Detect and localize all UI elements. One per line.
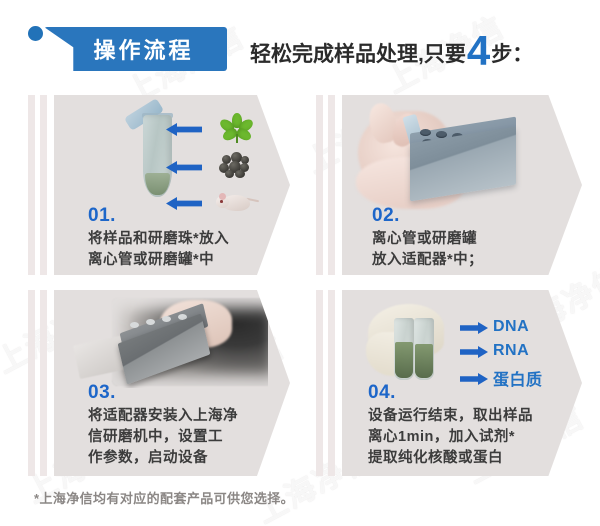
photo-hand-with-adapter	[350, 99, 540, 211]
card-stripe-inner	[328, 95, 335, 275]
ribbon-title: 操作流程	[44, 27, 227, 71]
infographic-page: 操作流程 轻松完成样品处理,只要 4 步 ：	[0, 0, 600, 526]
left-arrow-icon	[166, 197, 202, 210]
right-arrow-icon	[460, 345, 488, 357]
specimen-row-beads	[166, 155, 276, 181]
card-body-01: 01. 将样品和研磨珠*放入 离心管或研磨罐*中	[54, 95, 290, 275]
headline: 轻松完成样品处理,只要 4 步 ：	[250, 30, 533, 68]
right-arrow-icon	[460, 321, 488, 333]
specimen-row-mouse	[166, 191, 276, 217]
photo-gloved-hand-with-tubes	[354, 294, 464, 386]
step-number-03: 03.	[88, 382, 116, 404]
step-number-02: 02.	[372, 205, 400, 227]
beads-icon	[216, 151, 258, 183]
step-text-01: 将样品和研磨珠*放入 离心管或研磨罐*中	[88, 229, 229, 271]
step-number-01: 01.	[88, 205, 116, 227]
step-number-04: 04.	[368, 382, 396, 404]
right-arrow-icon	[460, 372, 488, 384]
card-body-04: DNA RNA 蛋白质 04. 设备运行结束，取出样品 离心1min，加入试剂*…	[342, 290, 582, 476]
leaf-icon	[216, 113, 258, 145]
headline-step-count: 4	[467, 34, 490, 68]
step-text-04: 设备运行结束，取出样品 离心1min，加入试剂* 提取纯化核酸或蛋白	[368, 406, 533, 469]
headline-pre-text: 轻松完成样品处理,只要	[250, 38, 466, 68]
output-label-dna: DNA	[493, 318, 529, 336]
output-label-protein: 蛋白质	[493, 366, 543, 390]
headline-colon: ：	[512, 38, 533, 68]
card-stripe-outer	[28, 290, 35, 476]
headline-post-text: 步	[491, 38, 512, 68]
card-stripe-outer	[28, 95, 35, 275]
specimen-row-plant	[166, 117, 276, 143]
left-arrow-icon	[166, 161, 202, 174]
step-text-03: 将适配器安装入上海净 信研磨机中，设置工 作参数，启动设备	[88, 406, 238, 469]
output-row-dna: DNA	[460, 318, 529, 336]
footer-note: *上海净信均有对应的配套产品可供您选择。	[34, 488, 294, 507]
card-body-02: 02. 离心管或研磨罐 放入适配器*中；	[342, 95, 582, 275]
card-stripe-inner	[328, 290, 335, 476]
card-stripe-outer	[316, 95, 323, 275]
step-card-02: 02. 离心管或研磨罐 放入适配器*中；	[316, 95, 582, 275]
mouse-icon	[216, 187, 258, 219]
output-row-protein: 蛋白质	[460, 366, 543, 390]
step-card-04: DNA RNA 蛋白质 04. 设备运行结束，取出样品 离心1min，加入试剂*…	[316, 290, 582, 476]
step-card-01: 01. 将样品和研磨珠*放入 离心管或研磨罐*中	[28, 95, 290, 275]
output-row-rna: RNA	[460, 342, 529, 360]
card-stripe-inner	[40, 290, 47, 476]
card-stripe-inner	[40, 95, 47, 275]
header: 操作流程 轻松完成样品处理,只要 4 步 ：	[0, 0, 600, 88]
card-stripe-outer	[316, 290, 323, 476]
bullet-dot-icon	[28, 26, 43, 41]
step-card-03: 03. 将适配器安装入上海净 信研磨机中，设置工 作参数，启动设备	[28, 290, 290, 476]
photo-adapter-into-homogenizer	[68, 292, 268, 388]
left-arrow-icon	[166, 123, 202, 136]
output-label-rna: RNA	[493, 342, 529, 360]
step-text-02: 离心管或研磨罐 放入适配器*中；	[372, 229, 483, 271]
card-body-03: 03. 将适配器安装入上海净 信研磨机中，设置工 作参数，启动设备	[54, 290, 290, 476]
